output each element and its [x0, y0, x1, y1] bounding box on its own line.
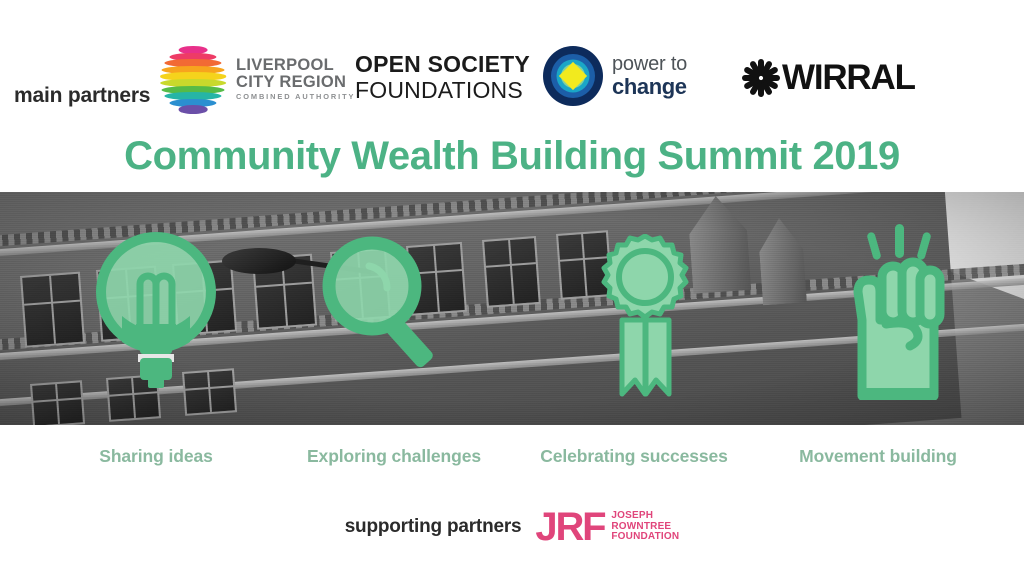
osf-line2: FOUNDATIONS [355, 78, 530, 104]
jrf-line3: FOUNDATION [611, 532, 679, 543]
logo-power-to-change: power to change [543, 46, 687, 106]
lcr-line3: COMBINED AUTHORITY [236, 93, 355, 101]
raised-fist-icon [838, 200, 958, 405]
lcr-line2: CITY REGION [236, 74, 355, 91]
logo-wirral: WIRRAL [743, 58, 915, 98]
lcr-line1: LIVERPOOL [236, 57, 355, 74]
supporting-partners-bar: supporting partners JRF JOSEPH ROWNTREE … [0, 497, 1024, 557]
rosette-award-icon [588, 234, 703, 407]
wirral-wordmark: WIRRAL [782, 58, 915, 98]
supporting-partners-label: supporting partners [345, 516, 522, 538]
pillar-captions: Sharing ideas Exploring challenges Celeb… [0, 425, 1024, 487]
pillar-icons [0, 192, 1024, 425]
logo-liverpool-city-region: LIVERPOOL CITY REGION COMBINED AUTHORITY [160, 46, 355, 112]
magnifying-glass-icon [322, 236, 442, 391]
rainbow-globe-icon [160, 46, 226, 112]
main-partners-bar: main partners LIVERPOOL CITY REGION COMB… [0, 0, 1024, 132]
caption-sharing-ideas: Sharing ideas [32, 446, 280, 467]
ptc-line2: change [612, 76, 687, 98]
caption-celebrating-successes: Celebrating successes [508, 446, 760, 467]
jrf-monogram: JRF [535, 509, 604, 545]
lcr-wordmark: LIVERPOOL CITY REGION COMBINED AUTHORITY [236, 57, 355, 100]
flower-burst-icon [743, 60, 779, 96]
logo-joseph-rowntree-foundation: JRF JOSEPH ROWNTREE FOUNDATION [535, 509, 679, 545]
concentric-circles-diamond-icon [543, 46, 603, 106]
caption-movement-building: Movement building [752, 446, 1004, 467]
ptc-line1: power to [612, 54, 687, 74]
lightbulb-icon [96, 232, 216, 397]
main-partners-label: main partners [14, 84, 150, 108]
page-title: Community Wealth Building Summit 2019 [0, 134, 1024, 179]
osf-line1: OPEN SOCIETY [355, 52, 530, 78]
logo-open-society-foundations: OPEN SOCIETY FOUNDATIONS [355, 52, 530, 104]
jrf-wordmark: JOSEPH ROWNTREE FOUNDATION [611, 511, 679, 543]
globe-band [179, 105, 208, 113]
ptc-wordmark: power to change [612, 54, 687, 98]
caption-exploring-challenges: Exploring challenges [268, 446, 520, 467]
